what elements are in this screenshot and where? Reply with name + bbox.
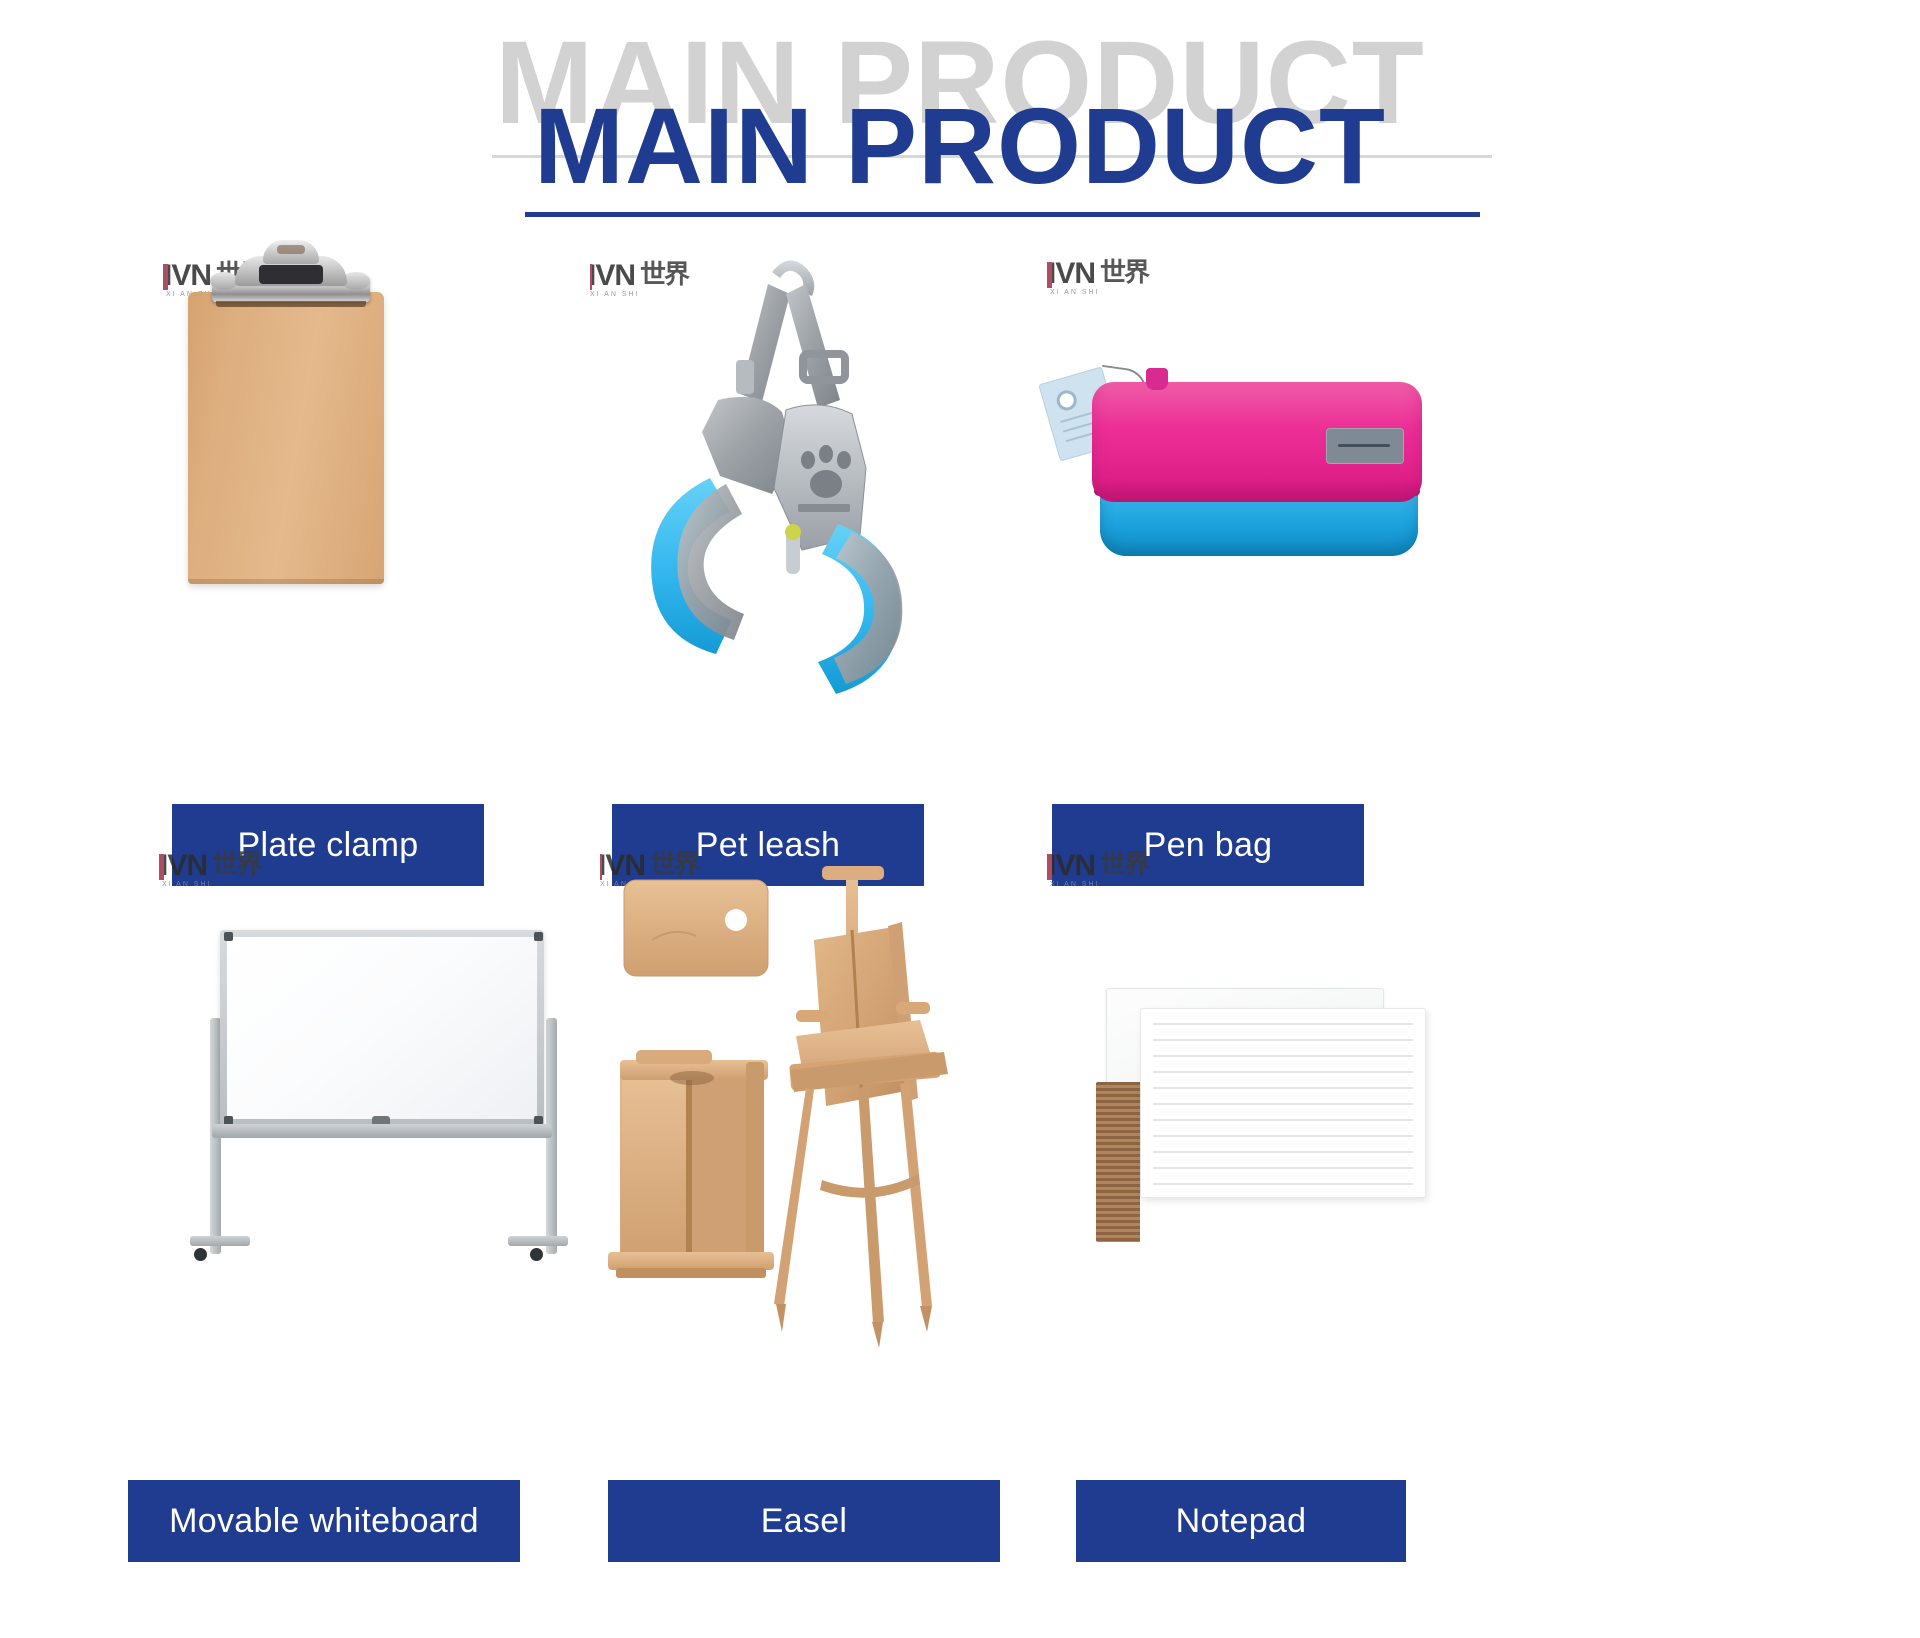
whiteboard-foot-right (508, 1236, 568, 1246)
whiteboard-caster-left (194, 1248, 207, 1261)
folded-easel-case (608, 1050, 774, 1278)
product-label-movable-whiteboard: Movable whiteboard (128, 1480, 520, 1562)
watermark-chinese: 世界 (1100, 852, 1148, 879)
clipboard-clip-lobe-left (210, 272, 238, 290)
product-grid: IVN XI AN SHI 世界 Plate clamp IVN XI AN S… (0, 232, 1920, 1638)
notepad-front-pad (1140, 1008, 1426, 1198)
product-image-notepad: IVN XI AN SHI 世界 (1030, 822, 1490, 1472)
watermark-subtitle: XI AN SHI (1050, 289, 1100, 296)
pen-bag-brand-patch (1326, 428, 1404, 464)
product-image-easel: IVN XI AN SHI 世界 (600, 822, 1060, 1472)
page-title: MAIN PRODUCT (534, 92, 1386, 200)
whiteboard-writing-surface (227, 937, 537, 1119)
product-card-movable-whiteboard[interactable]: IVN XI AN SHI 世界 (120, 822, 610, 1602)
product-image-plate-clamp: IVN XI AN SHI 世界 (150, 232, 610, 792)
notepad-illustration (1096, 982, 1456, 1232)
product-image-pet-leash: IVN XI AN SHI 世界 (590, 232, 1050, 792)
watermark-brand: IVN (1048, 852, 1095, 881)
product-card-easel[interactable]: IVN XI AN SHI 世界 (600, 822, 1060, 1602)
clipboard-clip-handle (263, 240, 319, 264)
pet-harness-illustration (590, 232, 1050, 792)
whiteboard-foot-left (190, 1236, 250, 1246)
watermark-brand: IVN (160, 852, 207, 881)
product-card-notepad[interactable]: IVN XI AN SHI 世界 Notepad (1030, 822, 1490, 1602)
product-card-pet-leash[interactable]: IVN XI AN SHI 世界 (590, 232, 1050, 922)
clipboard-board (188, 292, 384, 584)
watermark-logo: IVN XI AN SHI 世界 (160, 852, 260, 881)
whiteboard-illustration (172, 900, 592, 1340)
title-underline (525, 212, 1480, 217)
notepad-cardboard-spine (1096, 1082, 1140, 1242)
watermark-brand: IVN (1048, 260, 1095, 289)
watermark-logo: IVN XI AN SHI 世界 (1048, 852, 1148, 881)
product-card-plate-clamp[interactable]: IVN XI AN SHI 世界 Plate clamp (150, 232, 610, 922)
easel-illustration (600, 822, 1060, 1472)
watermark-chinese: 世界 (212, 852, 260, 879)
product-label-notepad: Notepad (1076, 1480, 1406, 1562)
watermark-logo: IVN XI AN SHI 世界 (1048, 260, 1148, 289)
watermark-subtitle: XI AN SHI (1050, 881, 1100, 888)
whiteboard-corner-tl (224, 932, 233, 941)
whiteboard-marker-tray (212, 1124, 552, 1138)
watermark-subtitle: XI AN SHI (162, 881, 212, 888)
whiteboard-frame (220, 930, 544, 1126)
watermark-brand: IVN (164, 262, 211, 291)
product-card-pen-bag[interactable]: IVN XI AN SHI 世界 Pen bag (1030, 232, 1490, 922)
product-label-easel: Easel (608, 1480, 1000, 1562)
product-image-movable-whiteboard: IVN XI AN SHI 世界 (120, 822, 610, 1472)
standing-easel (774, 866, 948, 1348)
page-header: MAIN PRODUCT MAIN PRODUCT (0, 0, 1920, 230)
palette (624, 880, 768, 976)
whiteboard-caster-right (530, 1248, 543, 1261)
pen-bag-zipper-pull (1146, 368, 1168, 390)
watermark-chinese: 世界 (1100, 260, 1148, 287)
pen-bag-illustration (1038, 350, 1458, 580)
product-image-pen-bag: IVN XI AN SHI 世界 (1030, 232, 1490, 792)
whiteboard-corner-tr (534, 932, 543, 941)
